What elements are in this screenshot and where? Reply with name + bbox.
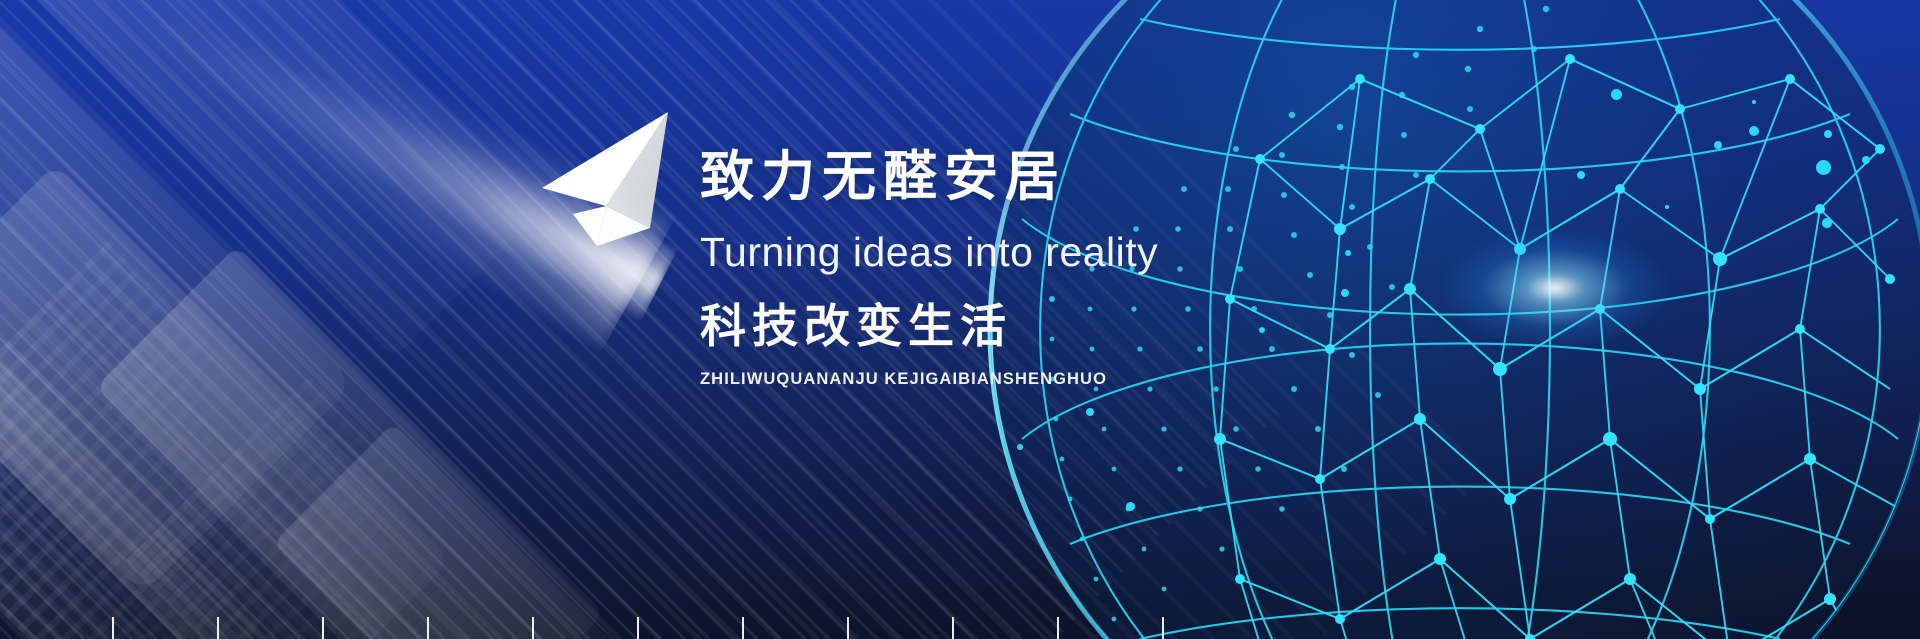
- star-dot: [1086, 408, 1094, 416]
- tick-mark: [952, 617, 954, 639]
- tick-mark: [112, 617, 114, 639]
- tick-mark: [637, 617, 639, 639]
- hero-banner: 致力无醛安居 Turning ideas into reality 科技改变生活…: [0, 0, 1920, 639]
- star-dot: [1822, 218, 1831, 227]
- paper-plane-icon: [540, 110, 690, 250]
- tick-mark: [742, 617, 744, 639]
- pinyin-caption: ZHILIWUQUANANJU KEJIGAIBIANSHENGHUO: [700, 371, 1158, 388]
- hero-copy: 致力无醛安居 Turning ideas into reality 科技改变生活…: [700, 150, 1158, 388]
- star-dot: [1749, 126, 1759, 136]
- star-dot: [1126, 502, 1135, 511]
- bottom-tick-rule: [0, 615, 1920, 639]
- star-dot: [1341, 289, 1349, 297]
- tick-mark: [532, 617, 534, 639]
- star-dot: [1345, 250, 1351, 256]
- star-dot: [1577, 171, 1585, 179]
- paper-plane-group: [540, 110, 690, 250]
- tagline-english: Turning ideas into reality: [700, 232, 1158, 273]
- page-title: 致力无醛安居: [700, 150, 1158, 204]
- tick-mark: [1057, 617, 1059, 639]
- tick-mark: [1162, 617, 1164, 639]
- star-dot: [1816, 160, 1831, 175]
- tick-mark: [322, 617, 324, 639]
- star-dot: [1611, 89, 1622, 100]
- subheadline: 科技改变生活: [700, 303, 1158, 349]
- star-dot: [1824, 130, 1832, 138]
- star-dot: [1665, 205, 1669, 209]
- tick-mark: [847, 617, 849, 639]
- tick-mark: [427, 617, 429, 639]
- tick-mark: [217, 617, 219, 639]
